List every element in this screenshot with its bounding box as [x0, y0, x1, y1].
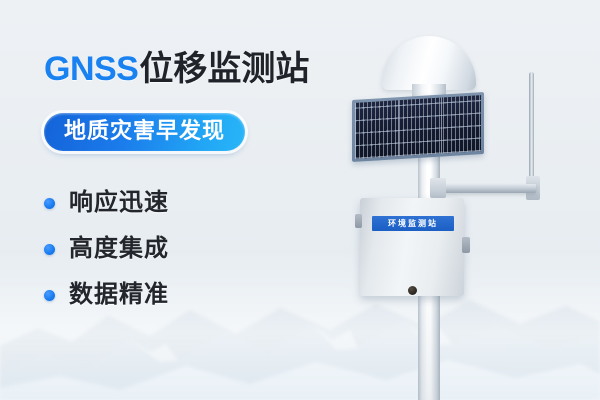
whip-antenna — [529, 72, 534, 184]
product-banner: 环境监测站 GNSS位移监测站 地质灾害早发现 响应迅速 高度集成 数据精准 — [0, 0, 600, 400]
enclosure-nameplate: 环境监测站 — [372, 216, 454, 231]
feature-list: 响应迅速 高度集成 数据精准 — [44, 180, 169, 318]
bullet-dot-icon — [44, 290, 55, 301]
enclosure-vent-port — [408, 286, 417, 295]
list-item: 响应迅速 — [44, 180, 169, 226]
solar-panel-cells — [355, 95, 481, 159]
antenna-crossarm — [434, 184, 536, 193]
bullet-dot-icon — [44, 244, 55, 255]
enclosure-latch-right — [462, 237, 470, 253]
feature-label: 数据精准 — [69, 283, 169, 307]
tagline-badge-label: 地质灾害早发现 — [64, 118, 225, 143]
tagline-badge: 地质灾害早发现 — [44, 113, 245, 151]
feature-label: 高度集成 — [69, 237, 169, 261]
enclosure-nameplate-text: 环境监测站 — [388, 220, 438, 228]
solar-panel — [352, 92, 484, 162]
list-item: 高度集成 — [44, 226, 169, 272]
gnss-antenna-dome-icon — [382, 36, 476, 90]
bullet-dot-icon — [44, 198, 55, 209]
feature-label: 响应迅速 — [69, 191, 169, 215]
page-title: GNSS位移监测站 — [44, 52, 309, 86]
page-title-rest: 位移监测站 — [139, 50, 309, 88]
instrument-enclosure — [360, 198, 464, 296]
page-title-highlight: GNSS — [44, 50, 138, 88]
antenna-bracket-left — [430, 178, 446, 198]
enclosure-hinge-left — [355, 214, 362, 228]
list-item: 数据精准 — [44, 272, 169, 318]
monitoring-station-device: 环境监测站 — [330, 0, 600, 400]
